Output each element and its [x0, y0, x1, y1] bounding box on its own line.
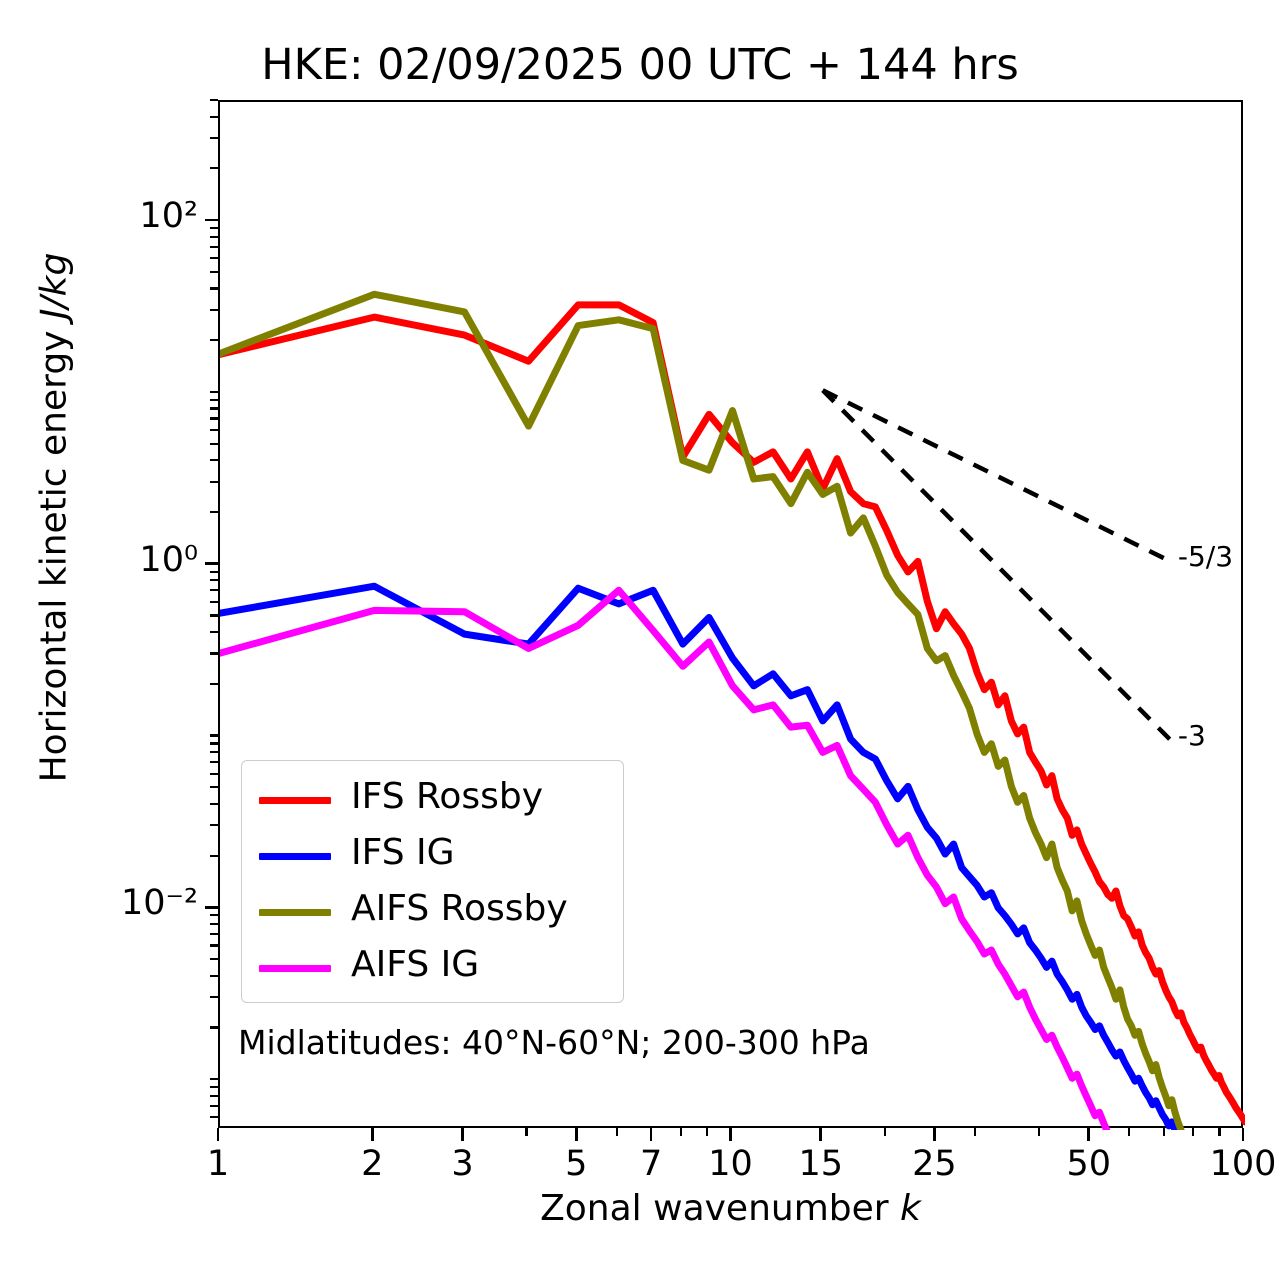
y-minor-tick	[210, 1078, 218, 1080]
y-minor-tick	[210, 459, 218, 461]
series-line-aifs-rossby	[220, 294, 1245, 1130]
region-annotation: Midlatitudes: 40°N-60°N; 200-300 hPa	[238, 1023, 870, 1062]
y-minor-tick	[210, 309, 218, 311]
y-tick-label-1: 10⁰	[18, 540, 198, 580]
y-minor-tick	[210, 933, 218, 935]
x-tick-100	[1242, 1128, 1245, 1141]
x-minor-tick-4	[525, 1128, 527, 1136]
y-minor-tick	[210, 773, 218, 775]
x-minor-tick-9	[706, 1128, 708, 1136]
y-minor-tick	[210, 914, 218, 916]
y-tick-1	[205, 562, 218, 565]
legend-item-aifs-ig[interactable]: AIFS IG	[259, 941, 609, 997]
y-tick-label-0: 10²	[18, 196, 198, 236]
y-minor-tick	[210, 236, 218, 238]
y-minor-tick	[210, 227, 218, 229]
y-minor-tick	[210, 257, 218, 259]
y-minor-tick	[210, 137, 218, 139]
x-tick-label-50: 50	[1029, 1144, 1149, 1184]
y-minor-tick	[210, 391, 218, 393]
y-minor-tick	[210, 511, 218, 513]
page-title: HKE: 02/09/2025 00 UTC + 144 hrs	[0, 40, 1280, 90]
slope-3	[823, 390, 1172, 741]
legend: IFS RossbyIFS IGAIFS RossbyAIFS IG	[241, 760, 624, 1003]
legend-item-ifs-rossby[interactable]: IFS Rossby	[259, 773, 609, 829]
x-minor-tick-40	[1038, 1128, 1040, 1136]
x-tick-25	[933, 1128, 936, 1141]
y-minor-tick	[210, 734, 218, 736]
y-minor-tick	[210, 167, 218, 169]
y-minor-tick	[210, 1026, 218, 1028]
slope-5-3	[823, 390, 1172, 562]
y-minor-tick	[210, 1086, 218, 1088]
x-tick-label-25: 25	[874, 1144, 994, 1184]
x-minor-tick-60	[1128, 1128, 1130, 1136]
x-axis-label: Zonal wavenumber k	[218, 1188, 1243, 1229]
y-minor-tick	[210, 601, 218, 603]
legend-label: AIFS Rossby	[351, 888, 568, 929]
y-minor-tick	[210, 407, 218, 409]
legend-label: IFS IG	[351, 832, 455, 873]
y-minor-tick	[210, 99, 218, 101]
slope-3-label: -3	[1178, 719, 1206, 752]
y-minor-tick	[210, 614, 218, 616]
chart-root: HKE: 02/09/2025 00 UTC + 144 hrs Horizon…	[0, 0, 1280, 1288]
x-minor-tick-80	[1192, 1128, 1194, 1136]
y-minor-tick	[210, 1105, 218, 1107]
y-minor-tick	[210, 399, 218, 401]
x-minor-tick-70	[1163, 1128, 1165, 1136]
y-minor-tick	[210, 824, 218, 826]
y-minor-tick	[210, 803, 218, 805]
y-minor-tick	[210, 589, 218, 591]
legend-item-ifs-ig[interactable]: IFS IG	[259, 829, 609, 885]
y-minor-tick	[210, 786, 218, 788]
y-minor-tick	[210, 429, 218, 431]
y-minor-tick	[210, 571, 218, 573]
y-minor-tick	[210, 958, 218, 960]
y-minor-tick	[210, 683, 218, 685]
y-minor-tick	[210, 975, 218, 977]
legend-label: AIFS IG	[351, 944, 479, 985]
x-tick-2	[371, 1128, 374, 1141]
y-minor-tick	[210, 481, 218, 483]
y-minor-tick	[210, 339, 218, 341]
y-minor-tick	[210, 287, 218, 289]
legend-label: IFS Rossby	[351, 776, 543, 817]
y-axis-label: Horizontal kinetic energy J/kg	[34, 168, 75, 868]
y-minor-tick	[210, 631, 218, 633]
y-tick-2	[205, 906, 218, 909]
x-tick-15	[819, 1128, 822, 1141]
y-minor-tick	[210, 579, 218, 581]
x-tick-50	[1087, 1128, 1090, 1141]
y-minor-tick	[210, 1095, 218, 1097]
y-minor-tick	[210, 443, 218, 445]
x-tick-label-15: 15	[761, 1144, 881, 1184]
legend-swatch-icon	[259, 909, 331, 916]
y-minor-tick	[210, 855, 218, 857]
y-minor-tick	[210, 652, 218, 654]
y-minor-tick	[210, 246, 218, 248]
x-minor-tick-20	[884, 1128, 886, 1136]
y-axis-label-unit: J/kg	[34, 253, 75, 319]
x-tick-10	[729, 1128, 732, 1141]
y-minor-tick	[210, 271, 218, 273]
y-tick-0	[205, 219, 218, 222]
legend-swatch-icon	[259, 853, 331, 860]
x-tick-5	[575, 1128, 578, 1141]
y-minor-tick	[210, 751, 218, 753]
y-minor-tick	[210, 923, 218, 925]
y-tick-label-2: 10⁻²	[18, 883, 198, 923]
slope-5-3-label: -5/3	[1178, 540, 1233, 573]
legend-swatch-icon	[259, 797, 331, 804]
x-minor-tick-8	[680, 1128, 682, 1136]
y-minor-tick	[210, 1116, 218, 1118]
y-minor-tick	[210, 996, 218, 998]
x-tick-label-1: 1	[158, 1144, 278, 1184]
x-minor-tick-90	[1218, 1128, 1220, 1136]
x-tick-1	[217, 1128, 220, 1141]
y-minor-tick	[210, 742, 218, 744]
x-tick-3	[461, 1128, 464, 1141]
x-tick-label-100: 100	[1183, 1144, 1280, 1184]
x-tick-7	[650, 1128, 653, 1141]
y-minor-tick	[210, 116, 218, 118]
x-axis-label-symbol: k	[900, 1188, 921, 1229]
x-minor-tick-6	[616, 1128, 618, 1136]
x-axis-label-text: Zonal wavenumber	[540, 1188, 900, 1229]
legend-item-aifs-rossby[interactable]: AIFS Rossby	[259, 885, 609, 941]
legend-swatch-icon	[259, 965, 331, 972]
y-minor-tick	[210, 761, 218, 763]
x-tick-label-3: 3	[403, 1144, 523, 1184]
y-minor-tick	[210, 417, 218, 419]
y-minor-tick	[210, 944, 218, 946]
x-minor-tick-30	[974, 1128, 976, 1136]
